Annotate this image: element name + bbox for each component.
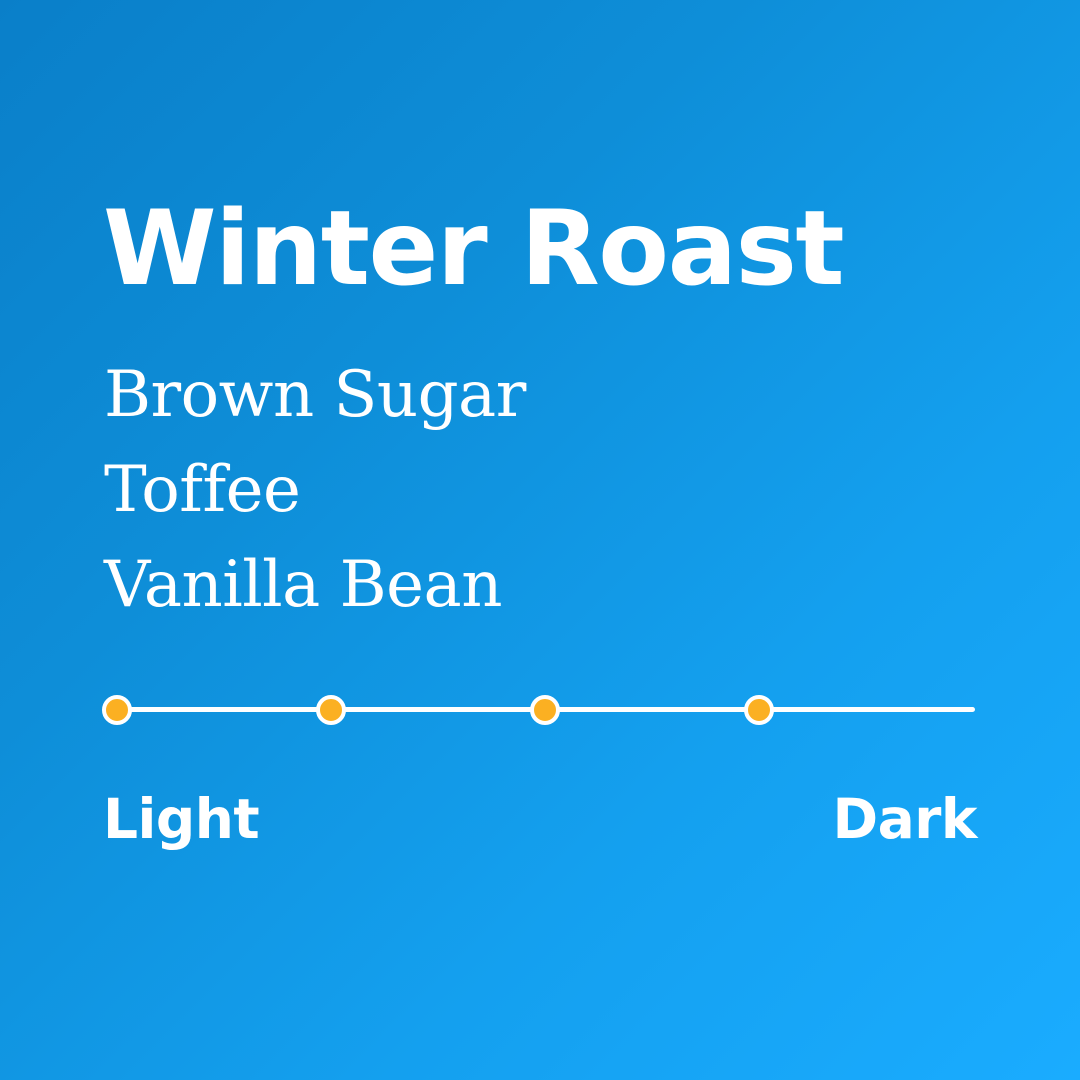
tasting-notes-list: Brown Sugar Toffee Vanilla Bean (104, 348, 526, 633)
roast-dot-3[interactable] (530, 695, 560, 725)
roast-scale-labels: Light Dark (103, 788, 977, 850)
product-roast-card: Winter Roast Brown Sugar Toffee Vanilla … (0, 0, 1080, 1080)
list-item: Vanilla Bean (104, 538, 526, 633)
list-item: Brown Sugar (104, 348, 526, 443)
roast-dot-1[interactable] (102, 695, 132, 725)
roast-dot-2[interactable] (316, 695, 346, 725)
list-item: Toffee (104, 443, 526, 538)
roast-label-dark: Dark (833, 788, 977, 850)
roast-dot-5[interactable] (958, 695, 988, 725)
page-title: Winter Roast (103, 190, 843, 308)
roast-dot-4[interactable] (744, 695, 774, 725)
roast-label-light: Light (103, 788, 259, 850)
roast-level-meter (0, 660, 1080, 760)
